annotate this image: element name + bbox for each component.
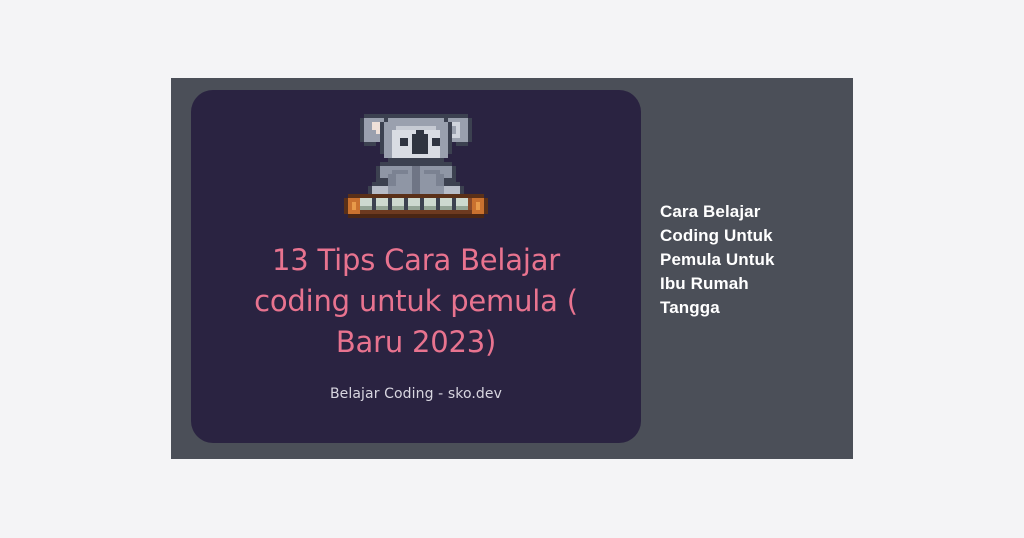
promo-card[interactable]: 13 Tips Cara Belajar coding untuk pemula…	[191, 90, 641, 443]
article-title[interactable]: Cara Belajar Coding Untuk Pemula Untuk I…	[660, 200, 825, 320]
koala-illustration-wrap	[191, 106, 641, 226]
promo-card-footer: Belajar Coding - sko.dev	[207, 386, 625, 402]
promo-card-title: 13 Tips Cara Belajar coding untuk pemula…	[207, 240, 625, 363]
article-preview-panel: 13 Tips Cara Belajar coding untuk pemula…	[171, 78, 853, 459]
screenshot-stage: 13 Tips Cara Belajar coding untuk pemula…	[0, 0, 1024, 538]
koala-coding-pixel-art-icon	[340, 106, 492, 226]
